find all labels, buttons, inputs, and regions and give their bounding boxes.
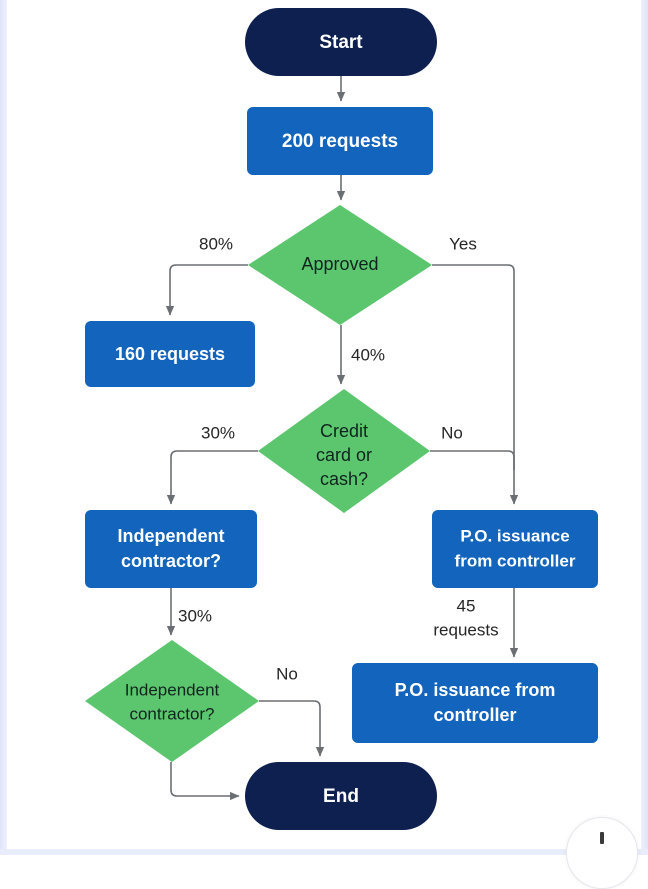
edge-label-80-percent: 80% bbox=[199, 234, 233, 253]
connector-approved-yes-to-po1 bbox=[432, 265, 514, 504]
node-independent-contractor-box-shape[interactable] bbox=[85, 510, 257, 588]
connector-indcontractor2-to-end bbox=[171, 762, 239, 796]
node-po-issuance-controller-upper-label-line2: from controller bbox=[455, 551, 576, 570]
connector-indcontractor2-no-to-end bbox=[259, 701, 320, 756]
node-credit-card-or-cash-label-line1: Credit bbox=[320, 421, 368, 441]
node-approved-label: Approved bbox=[301, 254, 378, 274]
node-independent-contractor-decision-label-line2: contractor? bbox=[129, 704, 214, 723]
node-po-issuance-controller-lower-label-line2: controller bbox=[433, 705, 516, 725]
node-independent-contractor-decision-label-line1: Independent bbox=[125, 680, 220, 699]
node-160-requests[interactable]: 160 requests bbox=[85, 321, 255, 387]
node-start[interactable]: Start bbox=[245, 8, 437, 76]
edge-label-30-percent-contractor: 30% bbox=[178, 606, 212, 625]
node-independent-contractor-box[interactable]: Independent contractor? bbox=[85, 510, 257, 588]
edge-label-no-credit: No bbox=[441, 423, 463, 442]
node-credit-card-or-cash[interactable]: Credit card or cash? bbox=[258, 389, 430, 513]
edge-label-45-requests-line2: requests bbox=[433, 620, 498, 639]
scroll-indicator-icon bbox=[600, 832, 604, 844]
node-po-issuance-controller-upper-label-line1: P.O. issuance bbox=[460, 526, 569, 545]
node-200-requests[interactable]: 200 requests bbox=[247, 107, 433, 175]
edge-label-40-percent: 40% bbox=[351, 345, 385, 364]
flowchart-canvas: 80% Yes 40% 30% No 30% 45 requests No St… bbox=[0, 0, 648, 855]
node-approved[interactable]: Approved bbox=[248, 205, 432, 325]
node-independent-contractor-decision-shape[interactable] bbox=[85, 640, 259, 762]
node-credit-card-or-cash-label-line2: card or bbox=[316, 445, 372, 465]
node-start-label: Start bbox=[319, 32, 363, 53]
node-end-label: End bbox=[323, 786, 359, 807]
node-po-issuance-controller-lower-label-line1: P.O. issuance from bbox=[395, 680, 556, 700]
edge-label-no-contractor: No bbox=[276, 664, 298, 683]
node-160-requests-label: 160 requests bbox=[115, 344, 225, 364]
node-po-issuance-controller-lower[interactable]: P.O. issuance from controller bbox=[352, 663, 598, 743]
edge-label-30-percent-credit: 30% bbox=[201, 423, 235, 442]
node-po-issuance-controller-upper-shape[interactable] bbox=[432, 510, 598, 588]
connector-creditcash-no-to-po1 bbox=[430, 451, 514, 470]
node-credit-card-or-cash-label-line3: cash? bbox=[320, 469, 368, 489]
connector-approved-to-160requests bbox=[170, 265, 248, 315]
node-independent-contractor-box-label-line1: Independent bbox=[118, 526, 225, 546]
scroll-indicator-button[interactable] bbox=[566, 817, 638, 889]
flowchart-page: 80% Yes 40% 30% No 30% 45 requests No St… bbox=[0, 0, 648, 855]
connector-creditcash-to-indcontractor1 bbox=[171, 451, 258, 504]
edge-label-45-requests-line1: 45 bbox=[457, 596, 476, 615]
node-independent-contractor-box-label-line2: contractor? bbox=[121, 551, 221, 571]
node-200-requests-label: 200 requests bbox=[282, 131, 398, 152]
node-po-issuance-controller-upper[interactable]: P.O. issuance from controller bbox=[432, 510, 598, 588]
node-po-issuance-controller-lower-shape[interactable] bbox=[352, 663, 598, 743]
node-end[interactable]: End bbox=[245, 762, 437, 830]
edge-label-yes: Yes bbox=[449, 234, 477, 253]
node-independent-contractor-decision[interactable]: Independent contractor? bbox=[85, 640, 259, 762]
